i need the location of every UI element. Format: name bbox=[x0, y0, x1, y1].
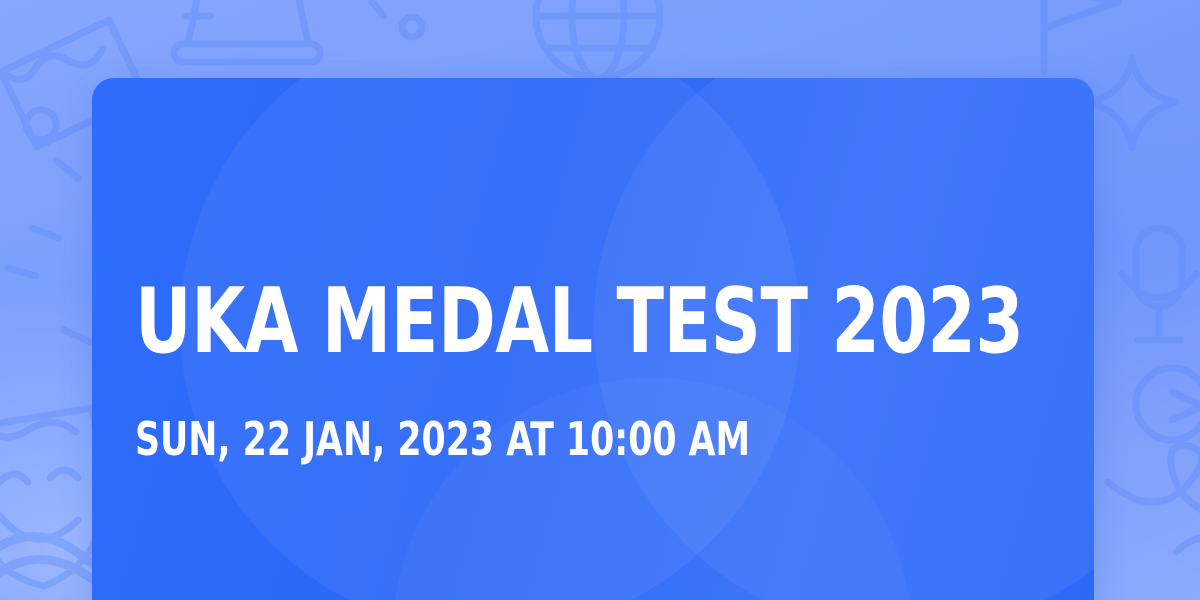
confetti-tick-icon bbox=[372, 2, 384, 16]
sparkle-icon bbox=[1088, 58, 1176, 148]
globe-icon bbox=[536, 0, 660, 78]
ribbon-swirl-icon bbox=[1108, 368, 1200, 562]
streamer-icon bbox=[8, 160, 90, 342]
microphone-icon bbox=[1122, 228, 1196, 340]
event-card-content: UKA MEDAL TEST 2023 SUN, 22 JAN, 2023 AT… bbox=[135, 78, 1035, 600]
confetti-dot-icon bbox=[402, 17, 422, 37]
event-banner-stage: UKA MEDAL TEST 2023 SUN, 22 JAN, 2023 AT… bbox=[0, 0, 1200, 600]
laptop-icon bbox=[174, 0, 320, 62]
event-datetime: SUN, 22 JAN, 2023 AT 10:00 AM bbox=[135, 415, 750, 463]
event-card: UKA MEDAL TEST 2023 SUN, 22 JAN, 2023 AT… bbox=[92, 78, 1094, 600]
event-title: UKA MEDAL TEST 2023 bbox=[135, 276, 1023, 368]
flag-icon bbox=[1044, 0, 1118, 72]
